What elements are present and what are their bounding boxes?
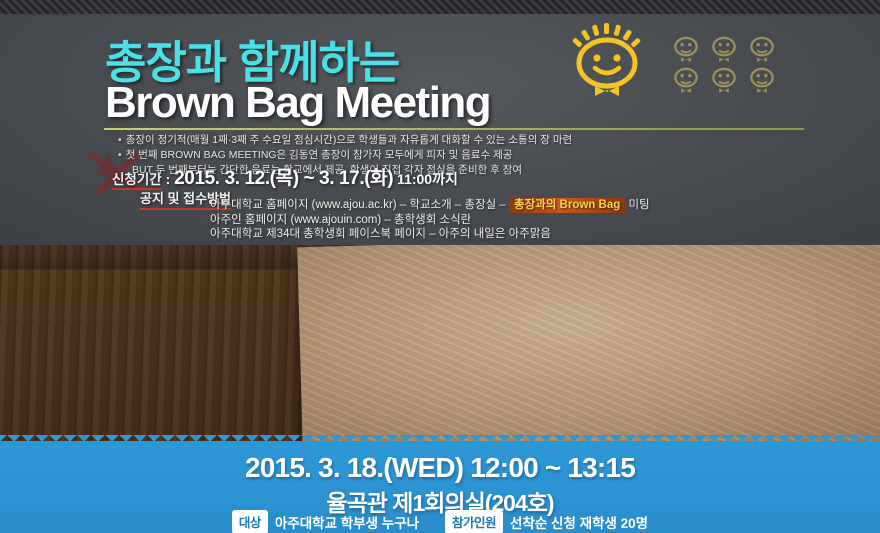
- student-mascot-icon: [706, 34, 742, 63]
- woven-texture-strip: [0, 0, 880, 14]
- event-datetime: 2015. 3. 18.(WED) 12:00 ~ 13:15: [0, 452, 880, 484]
- poster-root: 총장과 함께하는 Brown Bag Meeting: [0, 0, 880, 533]
- capacity-badge: 참가인원: [445, 510, 503, 533]
- student-mascot-icon: [668, 65, 704, 94]
- student-mascot-icon: [668, 34, 704, 63]
- audience-value: 아주대학교 학부생 누구나: [275, 512, 419, 532]
- notice-text-tail: 미팅: [625, 199, 649, 211]
- audience-badge: 대상: [232, 510, 268, 533]
- bullet-text: 첫 번째 BROWN BAG MEETING은 김동연 총장이 참가자 모두에게…: [126, 149, 513, 161]
- capacity-info: 참가인원 선착순 신청 재학생 20명: [445, 510, 648, 533]
- footer-badge-row: 대상 아주대학교 학부생 누구나 참가인원 선착순 신청 재학생 20명: [0, 510, 880, 533]
- notice-text: 아주대학교 제34대 총학생회 페이스북 페이지 – 아주의 내일은 아주맑음: [210, 228, 551, 240]
- bullet-text: 총장이 정기적(매월 1째·3째 주 수요일 점심시간)으로 학생들과 자유롭게…: [126, 134, 573, 146]
- bullet-item: •첫 번째 BROWN BAG MEETING은 김동연 총장이 참가자 모두에…: [118, 148, 858, 163]
- notice-text: 아주인 홈페이지 (www.ajouin.com) – 총학생회 소식란: [210, 214, 471, 226]
- capacity-value: 선착순 신청 재학생 20명: [510, 512, 648, 532]
- audience-info: 대상 아주대학교 학부생 누구나: [232, 510, 419, 533]
- application-period-deadline: 11:00까지: [393, 171, 458, 187]
- notice-text: 아주대학교 홈페이지 (www.ajou.ac.kr) – 학교소개 – 총장실…: [210, 199, 509, 211]
- bullet-marker: •: [118, 134, 122, 146]
- application-period-row: 신청기간 : 2015. 3. 12.(목) ~ 3. 17.(화) 11:00…: [112, 163, 832, 190]
- application-period-value: 2015. 3. 12.(목) ~ 3. 17.(화): [174, 168, 393, 189]
- president-mascot-icon: [562, 23, 652, 101]
- bullet-marker: •: [118, 149, 122, 161]
- notice-list: 아주대학교 홈페이지 (www.ajou.ac.kr) – 학교소개 – 총장실…: [210, 198, 870, 242]
- bullet-item: •총장이 정기적(매월 1째·3째 주 수요일 점심시간)으로 학생들과 자유롭…: [118, 133, 858, 148]
- student-mascot-icon: [706, 65, 742, 94]
- notice-item: 아주인 홈페이지 (www.ajouin.com) – 총학생회 소식란: [210, 213, 870, 228]
- header-section: 총장과 함께하는 Brown Bag Meeting: [0, 0, 880, 245]
- header-divider: [104, 128, 804, 130]
- brown-paper-sheet: [297, 245, 880, 441]
- photo-section: 아주대학교 총학생회 누구나 1973 BROWN BAG MEETING 누구…: [0, 245, 880, 441]
- notice-item: 아주대학교 홈페이지 (www.ajou.ac.kr) – 학교소개 – 총장실…: [210, 198, 870, 213]
- notice-item: 아주대학교 제34대 총학생회 페이스북 페이지 – 아주의 내일은 아주맑음: [210, 227, 870, 242]
- student-mascot-icon: [744, 34, 780, 63]
- student-mascot-group: [668, 34, 780, 94]
- application-separator: :: [162, 171, 174, 187]
- notice-highlight[interactable]: 총장과의 Brown Bag: [509, 198, 625, 213]
- student-mascot-icon: [744, 65, 780, 94]
- zigzag-edge: [0, 435, 880, 449]
